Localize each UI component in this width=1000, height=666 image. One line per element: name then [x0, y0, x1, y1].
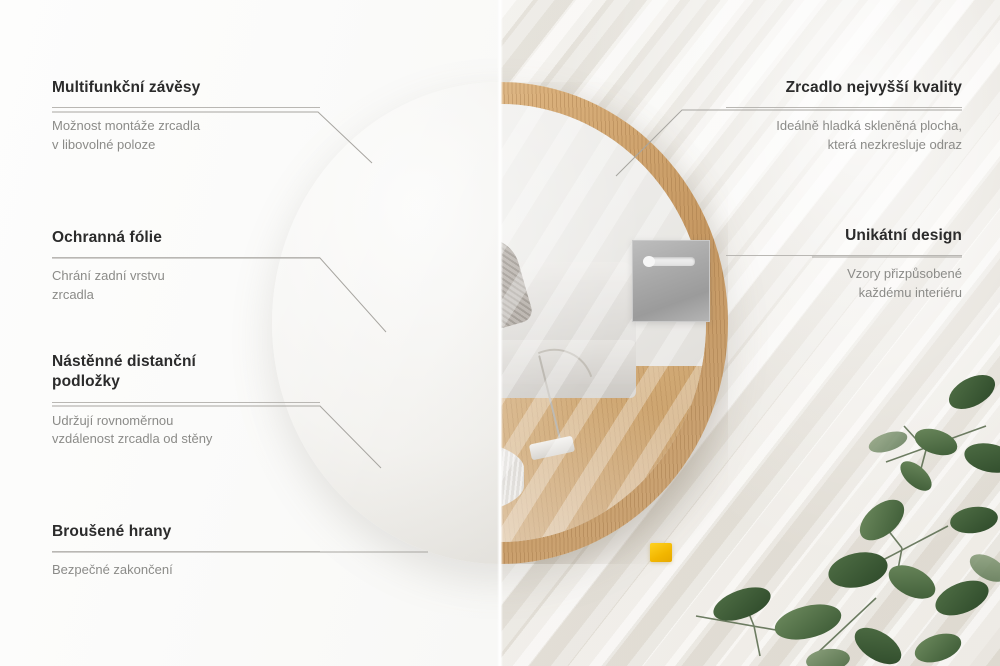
callout-title: Broušené hrany [52, 522, 320, 542]
callout-body: Možnost montáže zrcadla v libovolné polo… [52, 117, 320, 154]
callout-rule [52, 107, 320, 108]
foliage-decoration [690, 330, 1000, 666]
callout-rule [726, 255, 962, 256]
callout-body: Udržují rovnoměrnou vzdálenost zrcadla o… [52, 412, 320, 449]
callout-unikatni-design: Unikátní design Vzory přizpůsobené každé… [726, 226, 962, 302]
mirror-glass [500, 104, 706, 542]
callout-title: Multifunkční závěsy [52, 78, 320, 98]
hanger-keyhole-slot [649, 257, 695, 266]
callout-rule [52, 257, 320, 258]
callout-zrcadlo-nejvyssi-kvality: Zrcadlo nejvyšší kvality Ideálně hladká … [726, 78, 962, 154]
split-view-seam [497, 0, 503, 666]
callout-title: Ochranná fólie [52, 228, 320, 248]
callout-multifunkcni-zavesy: Multifunkční závěsy Možnost montáže zrca… [52, 78, 320, 154]
callout-body: Chrání zadní vrstvu zrcadla [52, 267, 320, 304]
infographic-stage: Multifunkční závěsy Možnost montáže zrca… [0, 0, 1000, 666]
callout-body: Bezpečné zakončení [52, 561, 320, 579]
callout-rule [52, 402, 320, 403]
callout-brousene-hrany: Broušené hrany Bezpečné zakončení [52, 522, 320, 580]
callout-title: Zrcadlo nejvyšší kvality [726, 78, 962, 98]
callout-title: Nástěnné distanční podložky [52, 352, 320, 393]
callout-rule [726, 107, 962, 108]
callout-rule [52, 551, 320, 552]
mirror-front-half [500, 82, 728, 564]
wall-spacer-pad [650, 543, 672, 562]
mounting-hanger-plate [632, 240, 710, 322]
callout-body: Ideálně hladká skleněná plocha, která ne… [726, 117, 962, 154]
callout-body: Vzory přizpůsobené každému interiéru [726, 265, 962, 302]
callout-title: Unikátní design [726, 226, 962, 246]
callout-nastenne-distancni-podlozky: Nástěnné distanční podložky Udržují rovn… [52, 352, 320, 449]
callout-ochranna-folie: Ochranná fólie Chrání zadní vrstvu zrcad… [52, 228, 320, 304]
